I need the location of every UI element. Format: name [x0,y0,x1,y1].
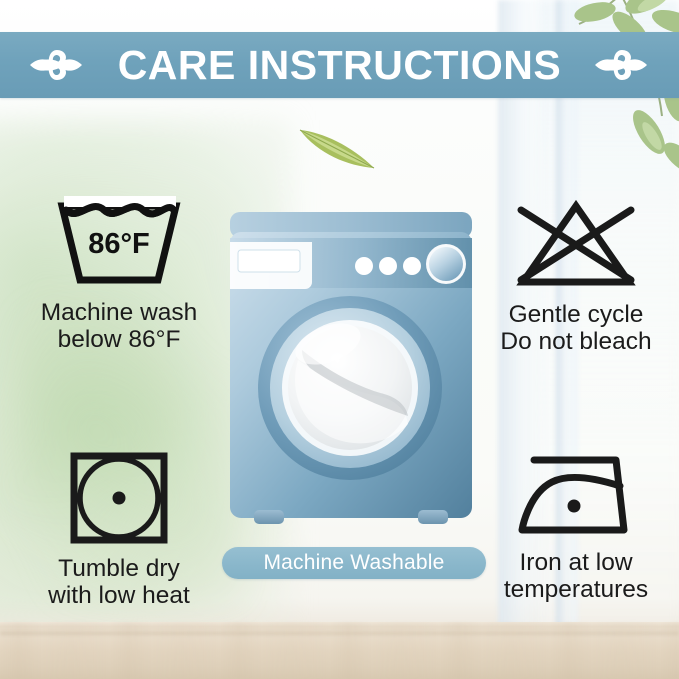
care-item-machine-wash: 86°F Machine wash below 86°F [8,196,230,354]
machine-washable-badge: Machine Washable [222,547,486,579]
do-not-bleach-triangle-icon [511,196,641,292]
tumble-dry-low-icon [66,448,172,548]
iron-low-heat-icon [512,448,640,540]
control-button-2 [379,257,397,275]
care-item-label-do-not-bleach: Gentle cycle Do not bleach [478,301,674,356]
table-edge-line [0,632,679,635]
table-grain-texture [0,622,679,679]
wash-tub-icon: 86°F [54,196,184,292]
care-item-label-iron: Iron at low temperatures [478,549,674,604]
wash-temperature-value: 86°F [88,228,150,260]
page-title: CARE INSTRUCTIONS [0,32,679,98]
machine-foot-right [418,510,448,524]
control-dial [429,247,463,281]
care-item-label-tumble-dry: Tumble dry with low heat [8,555,230,610]
care-item-tumble-dry: Tumble dry with low heat [8,448,230,610]
care-instructions-infographic: CARE INSTRUCTIONS 86°F Machine wash belo… [0,0,679,679]
control-button-1 [355,257,373,275]
washing-machine-illustration [228,210,474,530]
care-item-do-not-bleach: Gentle cycle Do not bleach [478,196,674,356]
machine-foot-left [254,510,284,524]
control-button-3 [403,257,421,275]
floating-leaf-icon [296,122,378,172]
care-item-label-machine-wash: Machine wash below 86°F [8,299,230,354]
care-item-iron-low: Iron at low temperatures [478,448,674,604]
